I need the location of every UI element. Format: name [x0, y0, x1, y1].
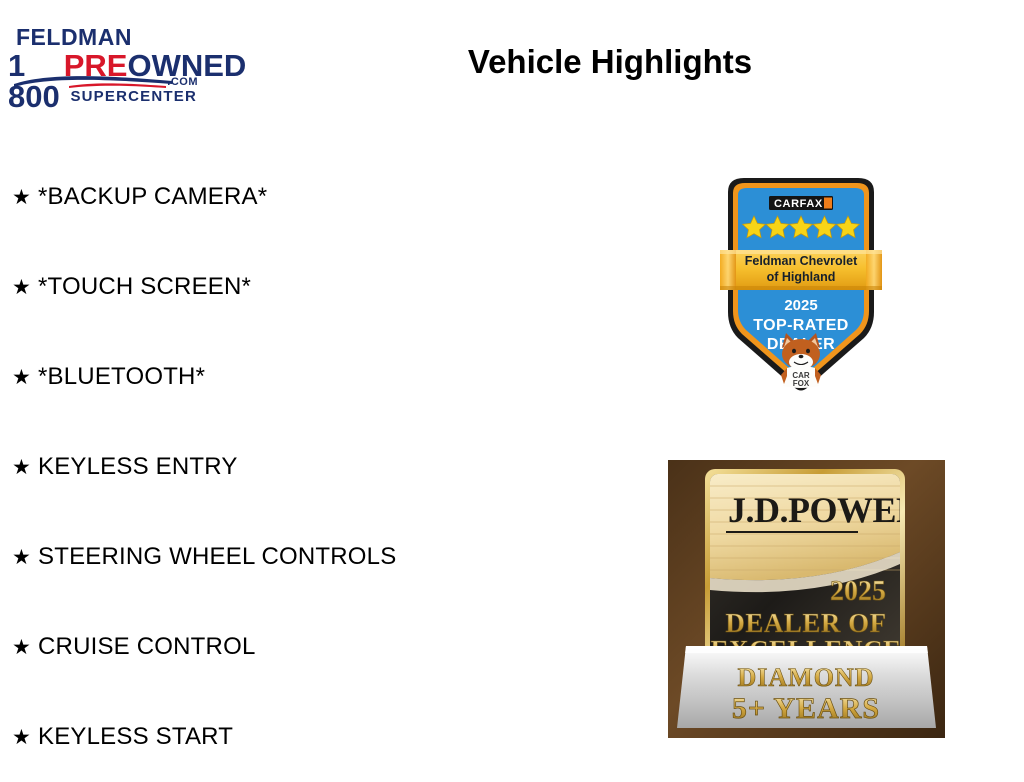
tier-line-1: DIAMOND	[738, 663, 875, 692]
award-line-1: DEALER OF	[725, 608, 886, 638]
list-item: ★ KEYLESS START	[12, 692, 572, 782]
badge-year: 2025	[784, 297, 817, 314]
award-year: 2025	[830, 576, 886, 607]
jd-power-dealer-of-excellence-award: J.D.POWER 2025 DEALER OF EXCELLENCE DIAM…	[668, 460, 945, 738]
list-item: ★ STEERING WHEEL CONTROLS	[12, 512, 572, 602]
page-title: Vehicle Highlights	[430, 43, 790, 81]
star-icon: ★	[12, 277, 38, 298]
logo-feldman-text: FELDMAN	[16, 26, 200, 49]
list-item: ★ KEYLESS ENTRY	[12, 422, 572, 512]
mascot-shirt-line-2: FOX	[793, 379, 810, 388]
highlight-label: KEYLESS START	[38, 723, 233, 751]
highlight-label: *BACKUP CAMERA*	[38, 183, 267, 211]
logo-dotcom-text: .COM	[167, 76, 198, 88]
highlight-label: STEERING WHEEL CONTROLS	[38, 543, 396, 571]
vehicle-highlights-list: ★ *BACKUP CAMERA* ★ *TOUCH SCREEN* ★ *BL…	[12, 152, 572, 782]
highlight-label: *BLUETOOTH*	[38, 363, 205, 391]
list-item: ★ CRUISE CONTROL	[12, 602, 572, 692]
list-item: ★ *BACKUP CAMERA*	[12, 152, 572, 242]
star-icon: ★	[12, 187, 38, 208]
star-icon: ★	[12, 547, 38, 568]
dealer-name-ribbon: Feldman Chevrolet of Highland	[720, 250, 882, 290]
carfax-wordmark: CARFAX	[769, 196, 833, 210]
highlight-label: CRUISE CONTROL	[38, 633, 256, 661]
star-icon: ★	[12, 727, 38, 748]
badge-award-line-1: TOP-RATED	[753, 317, 848, 334]
star-icon: ★	[12, 637, 38, 658]
ribbon-line-2: of Highland	[767, 270, 836, 284]
list-item: ★ *BLUETOOTH*	[12, 332, 572, 422]
svg-text:CARFAX: CARFAX	[774, 198, 823, 210]
tier-line-2: 5+ YEARS	[732, 692, 880, 725]
logo-swoosh-graphic	[14, 73, 174, 89]
ribbon-line-1: Feldman Chevrolet	[745, 254, 858, 268]
star-icon: ★	[12, 457, 38, 478]
star-icon: ★	[12, 367, 38, 388]
carfax-top-rated-dealer-badge: CARFAX Feldman Chevrolet of Highland 202…	[714, 170, 888, 396]
highlight-label: *TOUCH SCREEN*	[38, 273, 251, 301]
dealer-logo: FELDMAN 1 800 PRE OWNED .COM SUPERCENTER	[8, 26, 200, 102]
list-item: ★ *TOUCH SCREEN*	[12, 242, 572, 332]
highlight-label: KEYLESS ENTRY	[38, 453, 238, 481]
logo-supercenter-text: SUPERCENTER	[70, 88, 197, 105]
jdpower-brand-text: J.D.POWER	[728, 490, 923, 530]
car-fox-mascot-icon: CAR FOX	[781, 333, 821, 388]
